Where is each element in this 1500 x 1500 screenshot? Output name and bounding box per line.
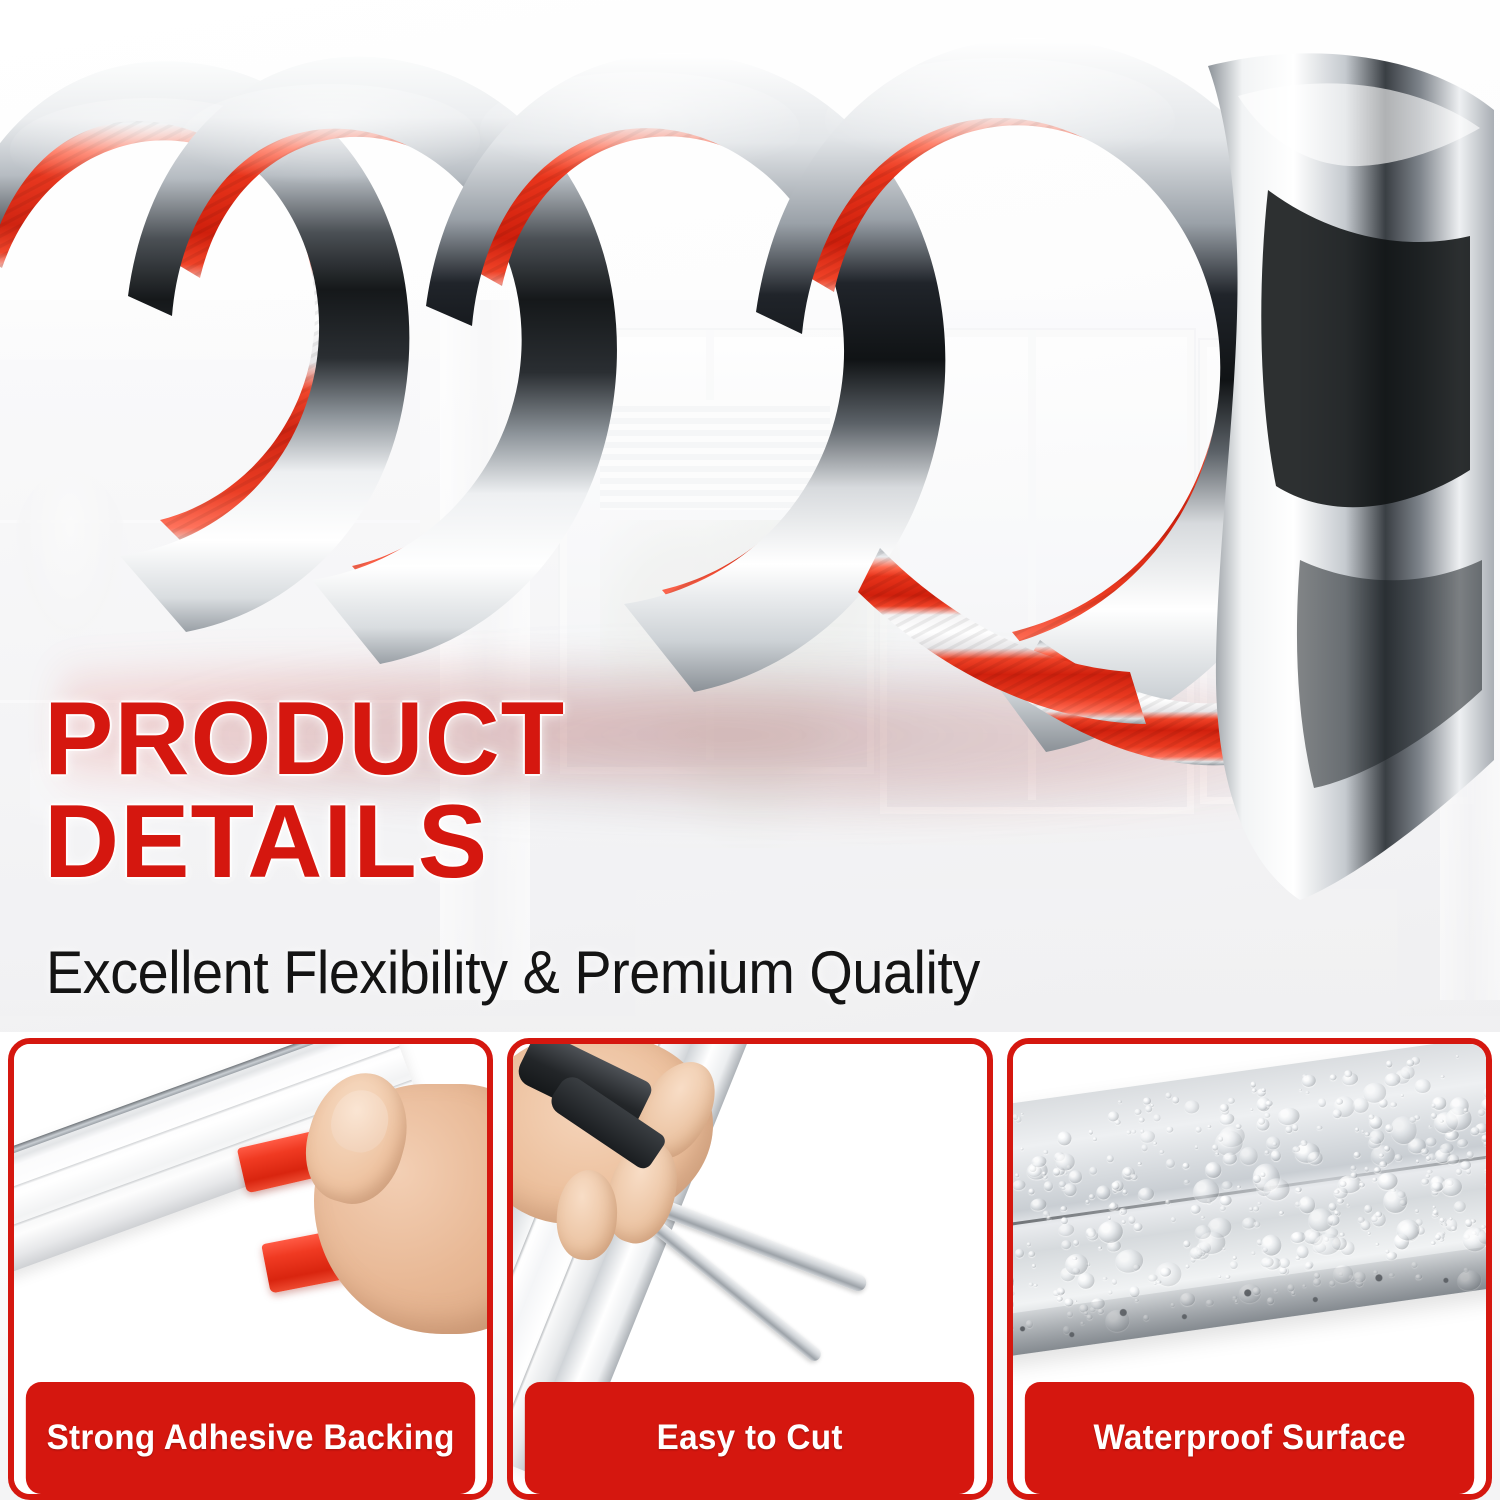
- water-droplet: [1195, 1145, 1199, 1149]
- water-droplet: [1217, 1274, 1221, 1278]
- water-droplet: [1482, 1085, 1486, 1099]
- water-droplet: [1181, 1162, 1189, 1169]
- water-droplet: [1276, 1107, 1300, 1126]
- water-droplet: [1072, 1239, 1079, 1246]
- water-droplet: [1183, 1099, 1200, 1114]
- water-droplet: [1027, 1250, 1035, 1257]
- feature-card-adhesive[interactable]: Strong Adhesive Backing: [8, 1038, 493, 1500]
- water-droplet: [1439, 1217, 1445, 1222]
- water-droplet: [1339, 1232, 1344, 1236]
- water-droplet: [1249, 1107, 1253, 1110]
- water-droplet: [1159, 1150, 1164, 1155]
- page-subtitle: Excellent Flexibility & Premium Quality: [46, 943, 980, 1003]
- water-droplet: [1389, 1102, 1396, 1108]
- water-droplet: [1102, 1277, 1107, 1281]
- water-droplet: [1463, 1108, 1468, 1112]
- water-droplet: [1106, 1155, 1113, 1162]
- water-droplet: [1332, 1109, 1343, 1120]
- water-droplet: [1207, 1125, 1211, 1128]
- water-droplet: [1251, 1251, 1256, 1255]
- water-droplet: [1096, 1219, 1124, 1244]
- water-droplet: [1113, 1248, 1143, 1275]
- water-droplet: [1138, 1117, 1144, 1123]
- water-droplet: [1434, 1233, 1441, 1240]
- water-droplet: [1014, 1248, 1025, 1259]
- water-droplet: [1305, 1091, 1309, 1094]
- water-droplet: [1373, 1166, 1381, 1173]
- water-droplet: [1292, 1145, 1301, 1152]
- water-droplet: [1033, 1283, 1038, 1287]
- water-droplet: [1383, 1145, 1390, 1151]
- water-droplet: [1253, 1206, 1259, 1212]
- water-droplet: [1087, 1231, 1099, 1242]
- water-droplet: [1191, 1177, 1220, 1205]
- water-droplet: [1484, 1169, 1486, 1173]
- water-droplet: [1060, 1239, 1072, 1250]
- water-droplet: [1357, 1216, 1364, 1223]
- water-droplet: [1200, 1215, 1205, 1219]
- water-droplet: [1406, 1059, 1415, 1067]
- water-droplet: [1165, 1158, 1175, 1168]
- chrome-surface-graphic: [1013, 1044, 1486, 1359]
- water-droplet: [1218, 1137, 1223, 1142]
- water-droplet: [1019, 1147, 1023, 1151]
- water-droplet: [1092, 1137, 1096, 1141]
- water-droplet: [1379, 1153, 1385, 1158]
- water-droplet: [1225, 1275, 1231, 1280]
- water-droplet: [1425, 1155, 1432, 1161]
- water-droplet: [1185, 1264, 1190, 1269]
- water-droplet: [1447, 1154, 1460, 1165]
- water-droplet: [1164, 1199, 1170, 1205]
- water-droplet: [1349, 1172, 1357, 1179]
- water-droplet: [1316, 1126, 1322, 1131]
- water-droplet: [1195, 1126, 1201, 1133]
- water-droplet: [1307, 1151, 1323, 1165]
- water-droplet: [1238, 1146, 1259, 1166]
- water-droplet: [1165, 1092, 1172, 1098]
- water-droplet: [1088, 1193, 1095, 1200]
- water-droplet: [1143, 1097, 1151, 1105]
- water-droplet: [1028, 1282, 1034, 1287]
- water-droplet: [1430, 1240, 1435, 1245]
- water-droplet: [1301, 1074, 1317, 1088]
- water-droplet: [1013, 1179, 1026, 1191]
- water-droplet: [1425, 1174, 1431, 1179]
- water-droplet: [1121, 1220, 1126, 1224]
- water-droplet: [1056, 1296, 1063, 1302]
- water-droplet: [1375, 1243, 1379, 1246]
- water-droplet: [1367, 1232, 1370, 1235]
- water-droplet: [1353, 1151, 1361, 1158]
- water-droplet: [1469, 1127, 1479, 1136]
- water-droplet: [1107, 1216, 1111, 1220]
- water-droplet: [1015, 1173, 1019, 1177]
- water-droplet: [1336, 1198, 1344, 1205]
- water-droplet: [1076, 1272, 1095, 1290]
- water-droplet: [1026, 1242, 1031, 1246]
- water-droplet: [1013, 1272, 1015, 1292]
- water-droplet: [1031, 1263, 1036, 1267]
- water-droplet: [1431, 1104, 1435, 1108]
- water-droplet: [1249, 1207, 1253, 1211]
- water-droplet: [1183, 1179, 1190, 1185]
- water-droplet: [1464, 1219, 1472, 1227]
- feature-panel-row: Strong Adhesive Backing Easy to Cut: [0, 1038, 1500, 1500]
- water-droplet: [1440, 1075, 1444, 1078]
- water-droplet: [1298, 1088, 1301, 1091]
- water-droplet: [1153, 1114, 1161, 1121]
- water-droplet: [1043, 1180, 1054, 1191]
- water-droplet: [1013, 1299, 1015, 1310]
- feature-caption-easy-cut: Easy to Cut: [525, 1382, 975, 1494]
- water-droplet: [1013, 1114, 1019, 1120]
- water-droplet: [1414, 1209, 1419, 1213]
- water-droplet: [1027, 1188, 1034, 1195]
- feature-card-easy-cut[interactable]: Easy to Cut: [507, 1038, 992, 1500]
- water-droplet: [1165, 1126, 1173, 1133]
- water-droplet: [1317, 1097, 1327, 1107]
- water-droplet: [1059, 1205, 1067, 1212]
- water-droplet: [1219, 1206, 1226, 1212]
- water-droplet: [1457, 1139, 1468, 1148]
- water-droplet: [1250, 1081, 1257, 1087]
- water-droplet: [1237, 1186, 1241, 1189]
- water-droplet: [1278, 1211, 1284, 1216]
- water-droplet: [1153, 1282, 1156, 1285]
- water-droplet: [1350, 1165, 1356, 1171]
- water-droplet: [1372, 1177, 1377, 1182]
- water-droplet: [1029, 1198, 1046, 1212]
- page-title: PRODUCT DETAILS: [44, 688, 1224, 894]
- water-droplet: [1363, 1166, 1369, 1172]
- water-droplet: [1222, 1247, 1226, 1251]
- water-droplet: [1088, 1130, 1093, 1135]
- feature-caption-waterproof: Waterproof Surface: [1024, 1382, 1474, 1494]
- water-droplet: [1477, 1108, 1485, 1116]
- water-droplet: [1229, 1261, 1238, 1270]
- title-line-2: DETAILS: [44, 791, 1224, 894]
- water-droplet: [1260, 1172, 1266, 1177]
- water-droplet: [1134, 1109, 1141, 1115]
- water-droplet: [1111, 1279, 1117, 1285]
- water-droplet: [1297, 1189, 1301, 1193]
- water-droplet: [1383, 1072, 1401, 1087]
- water-droplet: [1432, 1206, 1435, 1209]
- feature-card-waterproof[interactable]: Waterproof Surface: [1007, 1038, 1492, 1500]
- feature-caption-adhesive: Strong Adhesive Backing: [26, 1382, 476, 1494]
- water-droplet: [1385, 1250, 1389, 1254]
- water-droplet: [1428, 1125, 1431, 1128]
- water-droplet: [1455, 1168, 1462, 1175]
- water-droplet: [1057, 1223, 1075, 1237]
- water-droplet: [1221, 1181, 1232, 1191]
- water-droplet: [1259, 1233, 1282, 1256]
- water-droplet: [1133, 1222, 1143, 1232]
- title-line-1: PRODUCT: [44, 688, 1224, 791]
- water-droplet: [1344, 1070, 1352, 1077]
- hero-section: PRODUCT DETAILS Excellent Flexibility & …: [0, 0, 1500, 1032]
- water-droplet: [1156, 1280, 1161, 1284]
- water-droplet: [1141, 1144, 1148, 1151]
- water-droplet: [1108, 1202, 1118, 1210]
- water-droplet: [1257, 1202, 1261, 1206]
- product-detail-infographic: PRODUCT DETAILS Excellent Flexibility & …: [0, 0, 1500, 1500]
- water-droplet: [1449, 1217, 1453, 1221]
- water-droplet: [1270, 1150, 1281, 1162]
- water-droplet: [1370, 1215, 1377, 1222]
- water-droplet: [1042, 1149, 1048, 1154]
- water-droplet: [1145, 1105, 1153, 1113]
- water-droplet: [1300, 1139, 1307, 1147]
- water-droplet: [1219, 1195, 1232, 1206]
- water-droplet: [1096, 1184, 1112, 1200]
- water-droplet: [1466, 1150, 1474, 1158]
- water-droplet: [1127, 1215, 1136, 1224]
- water-droplet: [1439, 1142, 1454, 1154]
- water-droplet: [1170, 1216, 1176, 1222]
- water-droplet: [1455, 1054, 1459, 1058]
- water-droplet: [1085, 1200, 1089, 1204]
- water-droplet: [1232, 1256, 1237, 1261]
- water-droplet: [1413, 1078, 1431, 1095]
- water-droplet: [1098, 1246, 1102, 1249]
- water-droplet: [1278, 1257, 1290, 1269]
- water-droplet: [1073, 1300, 1077, 1303]
- water-droplet: [1219, 1113, 1235, 1126]
- water-droplet: [1013, 1290, 1015, 1296]
- water-droplet: [1326, 1214, 1340, 1226]
- water-droplet: [1057, 1131, 1072, 1146]
- water-droplet: [1264, 1113, 1271, 1118]
- water-droplet: [1253, 1221, 1260, 1228]
- water-droplet: [1130, 1174, 1137, 1180]
- water-droplet: [1329, 1073, 1337, 1080]
- water-droplet: [1137, 1187, 1154, 1202]
- water-droplet: [1263, 1150, 1268, 1155]
- water-droplet: [1227, 1097, 1235, 1105]
- water-droplet: [1056, 1287, 1065, 1296]
- water-droplet: [1153, 1142, 1157, 1145]
- water-droplet: [1304, 1262, 1312, 1270]
- water-droplet: [1483, 1142, 1486, 1147]
- water-droplet: [1137, 1161, 1141, 1165]
- water-droplet: [1204, 1161, 1222, 1179]
- water-droplet: [1130, 1129, 1136, 1135]
- water-droplet: [1215, 1152, 1219, 1155]
- water-droplet: [1415, 1160, 1419, 1164]
- water-droplet: [1107, 1291, 1112, 1295]
- water-droplet: [1354, 1127, 1359, 1132]
- water-droplet: [1171, 1096, 1179, 1104]
- water-droplet: [1117, 1100, 1121, 1103]
- water-droplet: [1450, 1225, 1457, 1231]
- water-droplet: [1265, 1136, 1281, 1151]
- water-droplet: [1067, 1170, 1082, 1184]
- water-droplet: [1189, 1204, 1201, 1215]
- water-droplet: [1089, 1166, 1098, 1175]
- water-droplet: [1364, 1204, 1373, 1213]
- water-droplet: [1400, 1094, 1404, 1097]
- water-droplet: [1394, 1153, 1403, 1161]
- water-droplet: [1379, 1160, 1387, 1167]
- water-droplet: [1453, 1200, 1466, 1212]
- water-droplet: [1221, 1152, 1237, 1166]
- water-droplet: [1046, 1216, 1052, 1221]
- water-droplet: [1385, 1060, 1393, 1067]
- water-droplet: [1485, 1155, 1486, 1162]
- water-droplet: [1284, 1126, 1292, 1134]
- water-droplet: [1122, 1189, 1127, 1195]
- water-droplet: [1346, 1203, 1350, 1206]
- water-droplet: [1420, 1178, 1428, 1185]
- water-droplet: [1020, 1113, 1024, 1116]
- water-droplet: [1485, 1182, 1486, 1187]
- water-droplet: [1182, 1240, 1191, 1248]
- water-droplet: [1408, 1116, 1416, 1123]
